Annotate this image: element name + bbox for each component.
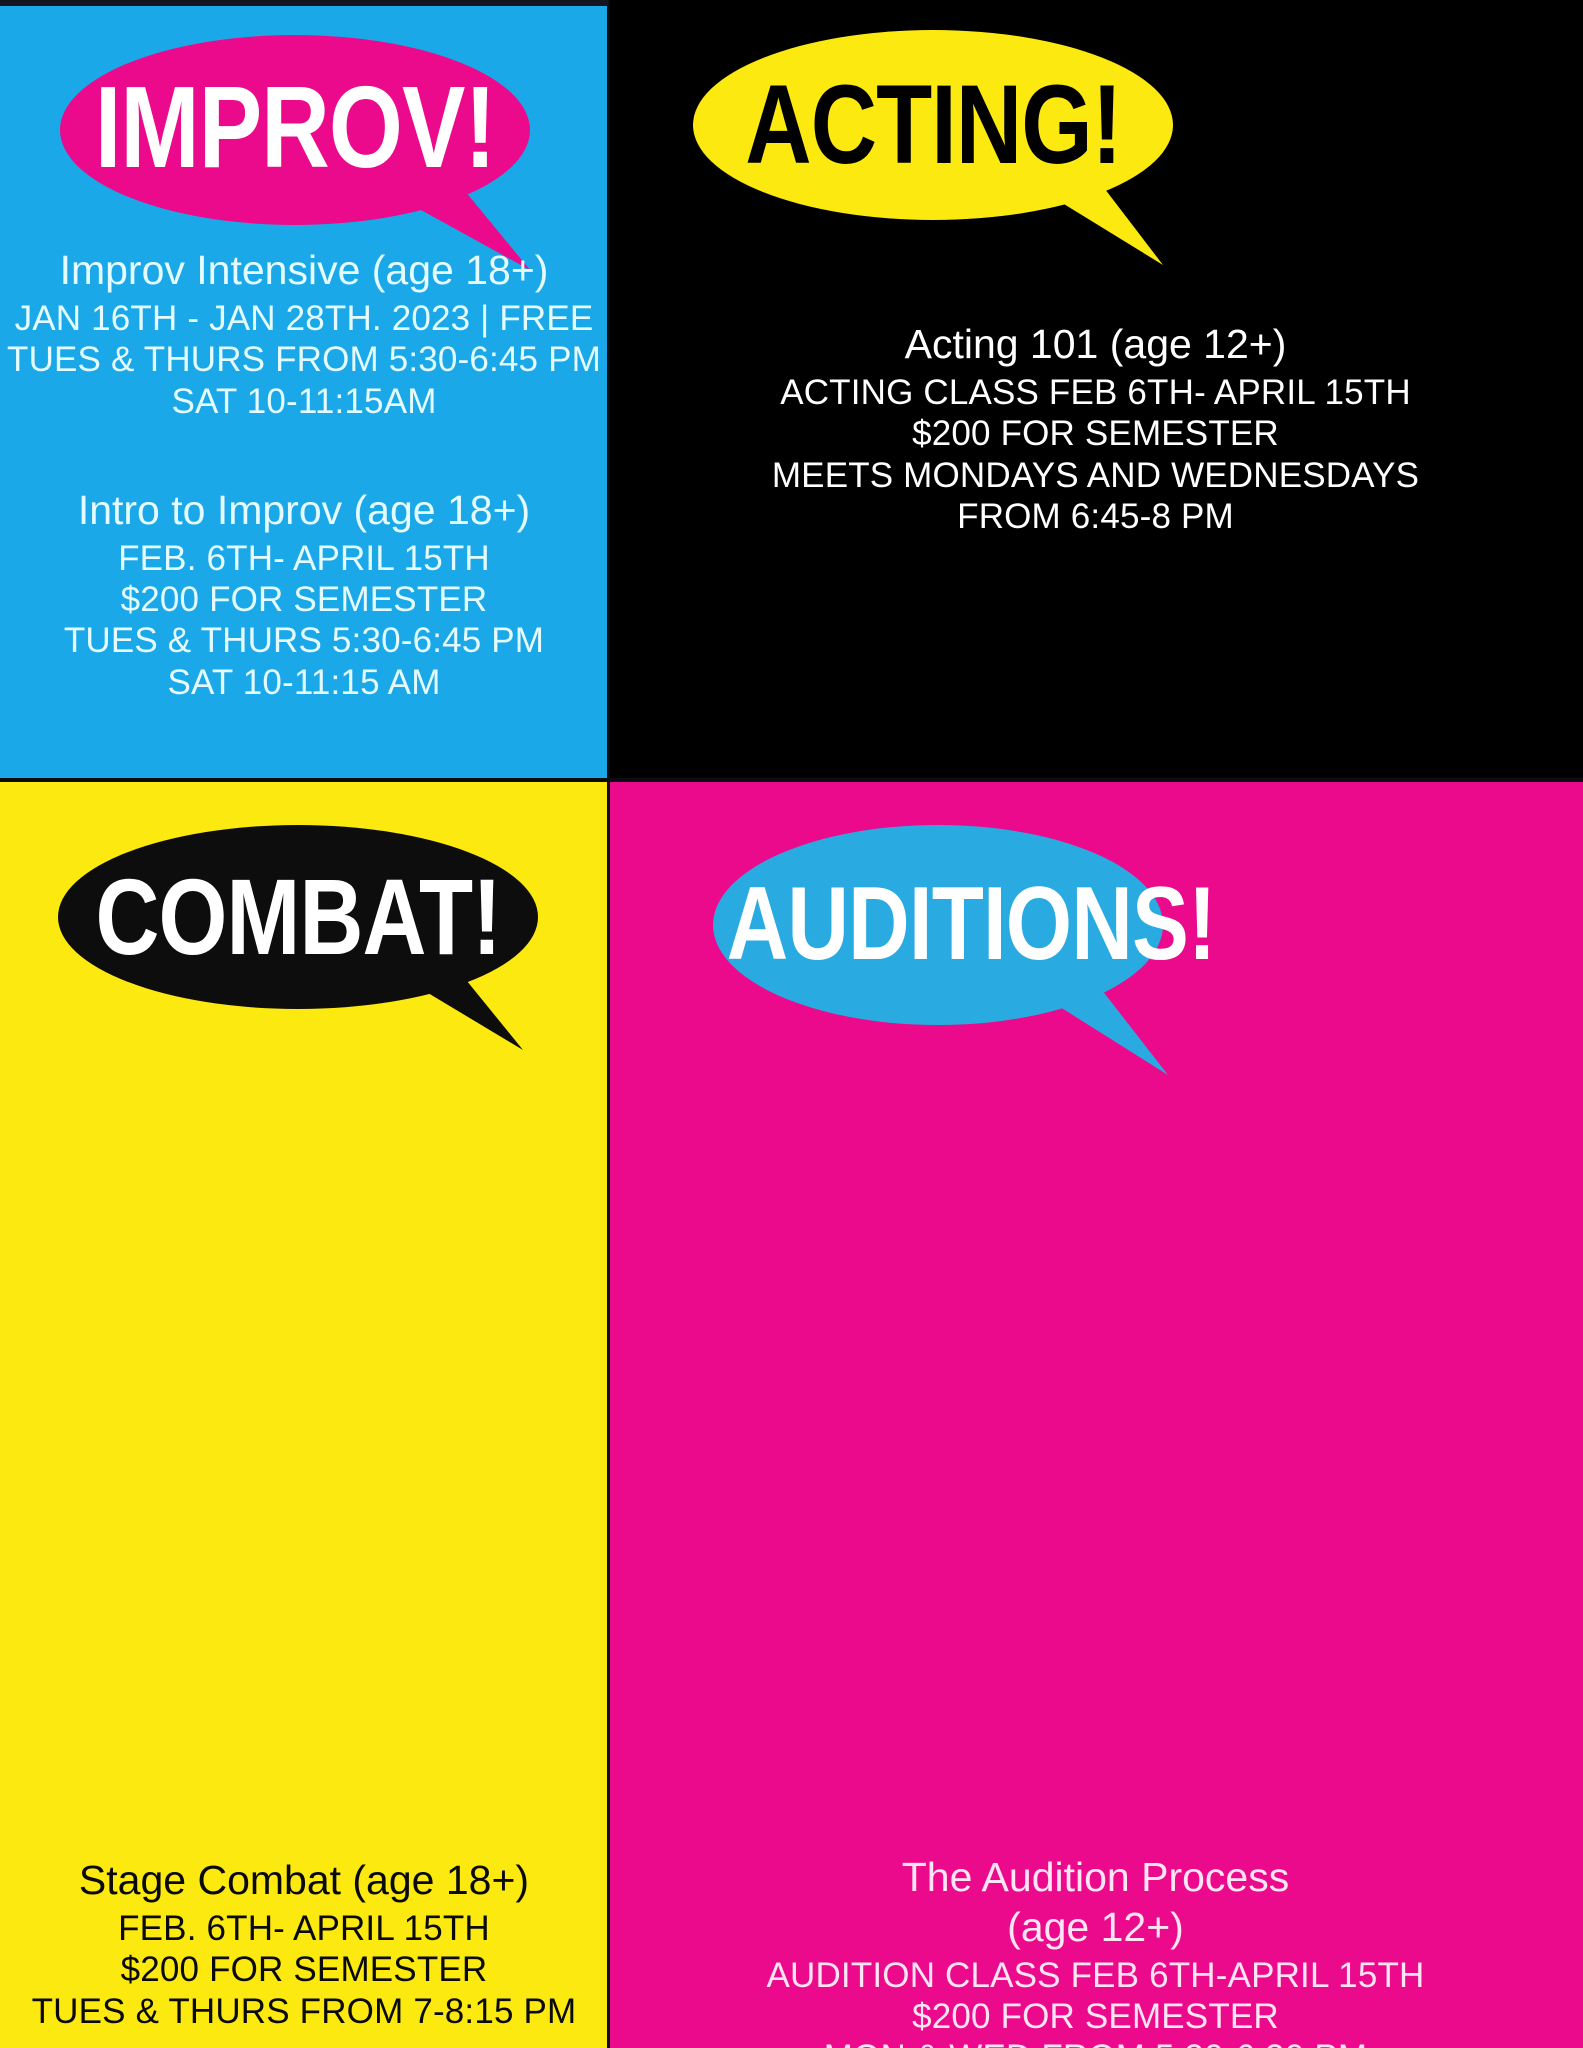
- bubble-label-acting: ACTING!: [745, 80, 1121, 170]
- panel-divider-vertical: [607, 0, 610, 2048]
- class-detail-line: TUES & THURS FROM 7-8:15 PM: [0, 1991, 608, 2032]
- class-title: The Audition Process: [608, 1855, 1583, 1901]
- section-spacer: [0, 422, 608, 488]
- class-audition-process: The Audition Process (age 12+) AUDITION …: [608, 1855, 1583, 2048]
- class-detail-line: ACTING CLASS FEB 6TH- APRIL 15TH: [608, 372, 1583, 413]
- class-detail-line: $200 FOR SEMESTER: [0, 579, 608, 620]
- class-list-acting: Acting 101 (age 12+) ACTING CLASS FEB 6T…: [608, 322, 1583, 537]
- class-detail-line: FEB. 6TH- APRIL 15TH: [0, 538, 608, 579]
- panel-combat: COMBAT! Stage Combat (age 18+) FEB. 6TH-…: [0, 780, 608, 2048]
- bubble-label-improv: IMPROV!: [95, 81, 495, 174]
- class-detail-line: JAN 16TH - JAN 28TH. 2023 | FREE: [0, 298, 608, 339]
- speech-bubble-auditions: AUDITIONS!: [703, 825, 1153, 1015]
- class-detail-line: $200 FOR SEMESTER: [0, 1949, 608, 1990]
- class-detail-line: FROM 6:45-8 PM: [608, 496, 1583, 537]
- panel-improv: IMPROV! Improv Intensive (age 18+) JAN 1…: [0, 0, 608, 780]
- panel-auditions: AUDITIONS! The Audition Process (age 12+…: [608, 780, 1583, 2048]
- class-intro-to-improv: Intro to Improv (age 18+) FEB. 6TH- APRI…: [0, 488, 608, 703]
- class-detail-line: AUDITION CLASS FEB 6TH-APRIL 15TH: [608, 1955, 1583, 1996]
- class-detail-line: $200 FOR SEMESTER: [608, 413, 1583, 454]
- class-detail-line: TUES & THURS FROM 5:30-6:45 PM: [0, 339, 608, 380]
- panel-divider-horizontal: [0, 778, 1583, 782]
- class-list-auditions: The Audition Process (age 12+) AUDITION …: [608, 1855, 1583, 2048]
- class-schedule-poster: IMPROV! Improv Intensive (age 18+) JAN 1…: [0, 0, 1583, 2048]
- class-improv-intensive: Improv Intensive (age 18+) JAN 16TH - JA…: [0, 248, 608, 422]
- class-detail-line: MEETS MONDAYS AND WEDNESDAYS: [608, 455, 1583, 496]
- class-list-improv: Improv Intensive (age 18+) JAN 16TH - JA…: [0, 248, 608, 703]
- class-title-age: (age 12+): [608, 1905, 1583, 1951]
- panel-acting: ACTING! Acting 101 (age 12+) ACTING CLAS…: [608, 0, 1583, 780]
- bubble-label-combat: COMBAT!: [95, 874, 500, 960]
- class-title: Improv Intensive (age 18+): [0, 248, 608, 294]
- class-acting-101: Acting 101 (age 12+) ACTING CLASS FEB 6T…: [608, 322, 1583, 537]
- class-detail-line: FEB. 6TH- APRIL 15TH: [0, 1908, 608, 1949]
- class-detail-line: SAT 10-11:15AM: [0, 381, 608, 422]
- class-stage-combat: Stage Combat (age 18+) FEB. 6TH- APRIL 1…: [0, 1858, 608, 2032]
- class-title: Stage Combat (age 18+): [0, 1858, 608, 1904]
- class-title: Acting 101 (age 12+): [608, 322, 1583, 368]
- speech-bubble-acting: ACTING!: [693, 30, 1163, 210]
- class-detail-line: TUES & THURS 5:30-6:45 PM: [0, 620, 608, 661]
- bubble-label-auditions: AUDITIONS!: [727, 883, 1216, 966]
- speech-bubble-improv: IMPROV!: [60, 35, 530, 220]
- class-detail-line: MON & WED FROM 5:30-6:30 PM: [608, 2037, 1583, 2048]
- class-title: Intro to Improv (age 18+): [0, 488, 608, 534]
- class-detail-line: SAT 10-11:15 AM: [0, 662, 608, 703]
- class-detail-line: $200 FOR SEMESTER: [608, 1996, 1583, 2037]
- class-list-combat: Stage Combat (age 18+) FEB. 6TH- APRIL 1…: [0, 1858, 608, 2032]
- speech-bubble-combat: COMBAT!: [58, 825, 538, 1000]
- poster-top-edge: [0, 0, 608, 6]
